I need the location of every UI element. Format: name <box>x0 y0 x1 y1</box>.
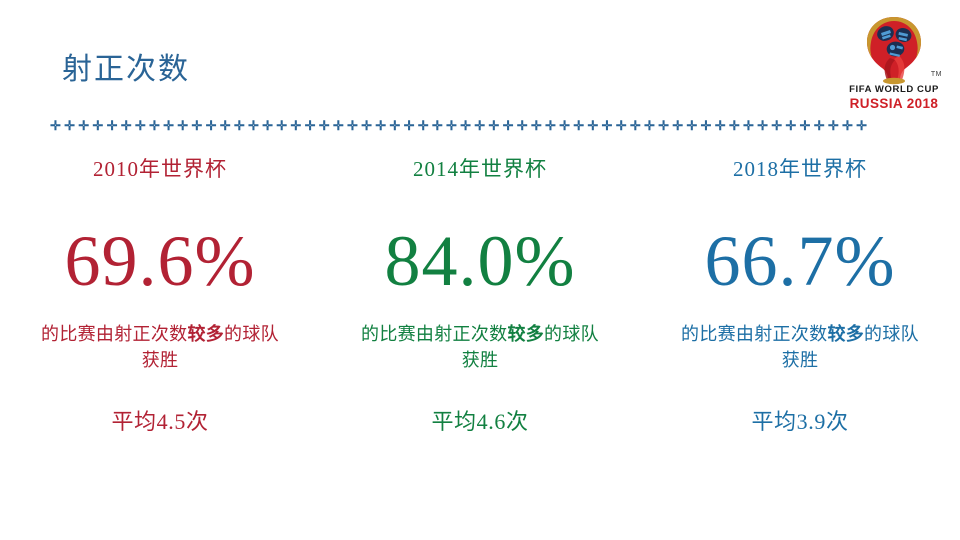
desc-before-2010: 的比赛由射正次数 <box>41 324 187 344</box>
desc-before-2018: 的比赛由射正次数 <box>681 324 827 344</box>
average-value-2014: 平均4.6次 <box>320 411 640 433</box>
average-value-2010: 平均4.5次 <box>0 411 320 433</box>
logo-russia-2018-text: RUSSIA 2018 <box>838 96 950 111</box>
fifa-world-cup-logo: TM FIFA WORLD CUP RUSSIA 2018 <box>838 14 950 114</box>
trademark-icon: TM <box>931 71 942 78</box>
desc-emphasis-2014: 较多 <box>507 324 544 344</box>
stat-description-2014: 的比赛由射正次数较多的球队获胜 <box>320 321 640 373</box>
decorative-plus-divider: ✛✛✛✛✛✛✛✛✛✛✛✛✛✛✛✛✛✛✛✛✛✛✛✛✛✛✛✛✛✛✛✛✛✛✛✛✛✛✛✛… <box>50 119 926 133</box>
stat-value-2014: 84.0% <box>320 225 640 297</box>
stat-description-2018: 的比赛由射正次数较多的球队获胜 <box>640 321 960 373</box>
stat-column-2014: 2014年世界杯 84.0% 的比赛由射正次数较多的球队获胜 平均4.6次 <box>320 150 640 433</box>
stats-columns: 2010年世界杯 69.6% 的比赛由射正次数较多的球队获胜 平均4.5次 20… <box>0 150 960 433</box>
desc-emphasis-2018: 较多 <box>827 324 864 344</box>
page-title: 射正次数 <box>62 44 190 88</box>
stat-column-2010: 2010年世界杯 69.6% 的比赛由射正次数较多的球队获胜 平均4.5次 <box>0 150 320 433</box>
stat-value-2010: 69.6% <box>0 225 320 297</box>
world-cup-trophy-icon: TM <box>838 14 950 86</box>
column-header-2014: 2014年世界杯 <box>320 159 640 180</box>
column-header-2018: 2018年世界杯 <box>640 159 960 180</box>
stat-column-2018: 2018年世界杯 66.7% 的比赛由射正次数较多的球队获胜 平均3.9次 <box>640 150 960 433</box>
stat-value-2018: 66.7% <box>640 225 960 297</box>
stat-description-2010: 的比赛由射正次数较多的球队获胜 <box>0 321 320 373</box>
column-header-2010: 2010年世界杯 <box>0 159 320 180</box>
average-value-2018: 平均3.9次 <box>640 411 960 433</box>
desc-before-2014: 的比赛由射正次数 <box>361 324 507 344</box>
desc-emphasis-2010: 较多 <box>187 324 224 344</box>
